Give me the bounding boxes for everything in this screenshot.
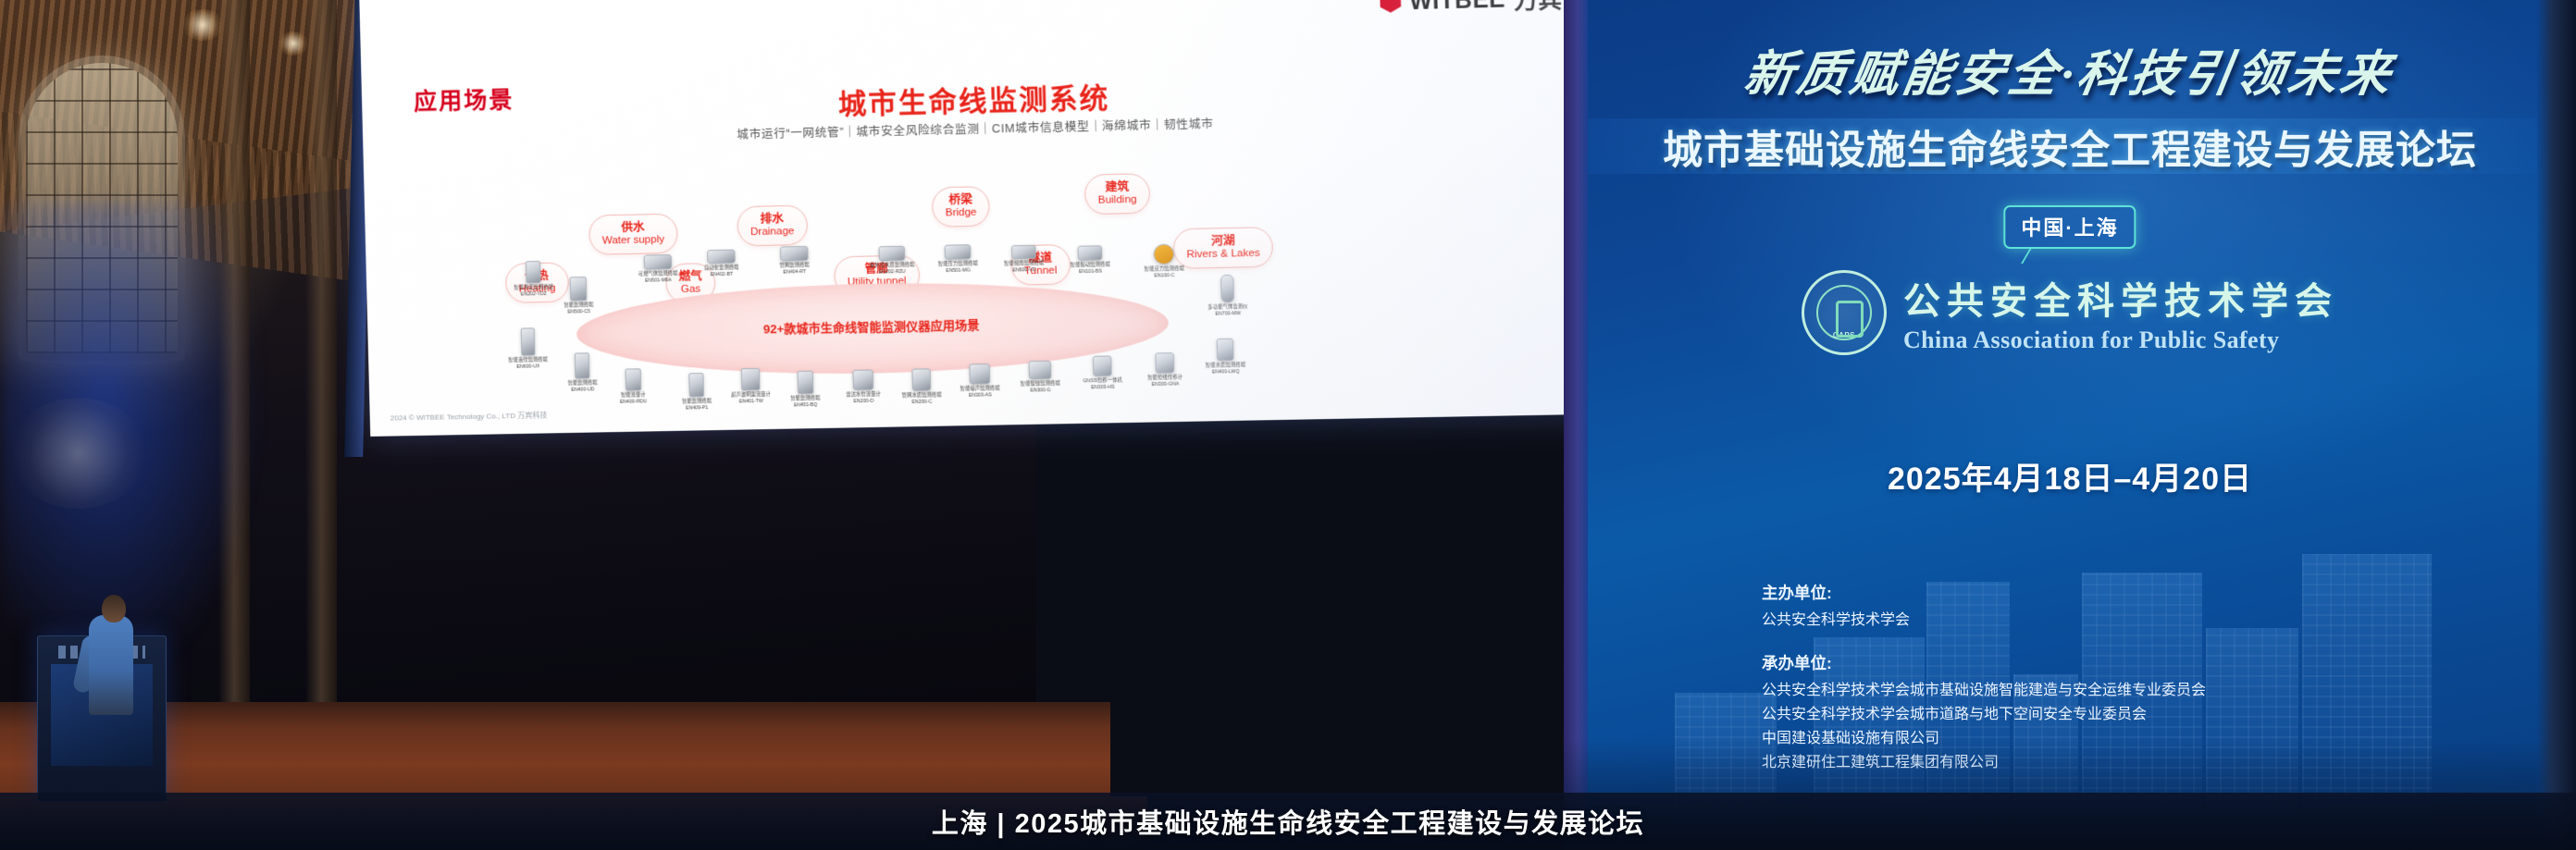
- speaker-person: [89, 615, 133, 715]
- scenario-pill-building: 建筑 Building: [1084, 173, 1151, 215]
- witbee-logo: WITBEE 万宾: [1380, 0, 1563, 19]
- slide-footer: 2024 © WITBEE Technology Co., LTD 万宾科技: [390, 410, 548, 423]
- crack-sensor-icon: [1028, 361, 1051, 380]
- vibration-sensor-icon: [1077, 245, 1102, 261]
- device-item: 智能水质监测终端 EN400-LWQ: [1195, 338, 1257, 375]
- co-host-name: 公共安全科学技术学会城市基础设施智能建造与安全运维专业委员会: [1762, 679, 2539, 703]
- device-item: 雷达水位流量计 EN200-D: [833, 369, 894, 404]
- ceiling-spotlight-icon: [181, 9, 224, 41]
- host-label: 主办单位:: [1762, 581, 2539, 604]
- hex-logo-icon: [1380, 0, 1401, 13]
- device-item: 智能流量计 EN400-RDU: [602, 368, 663, 405]
- sensor-icon: [520, 327, 535, 355]
- speaker-head: [102, 595, 126, 622]
- co-host-name: 中国建设基础设施有限公司: [1762, 727, 2539, 751]
- radar-level-meter-icon: [852, 369, 873, 390]
- sensor-icon: [688, 373, 704, 397]
- device-item: 超声波明渠流量计 EN401-TW: [720, 367, 781, 404]
- device-item: GNSS位移一体机 EN303-HS: [1071, 355, 1133, 390]
- device-item: 智能监测终端 EN409-P1: [666, 373, 727, 412]
- device-item: 管网水质监测终端 EN200-C: [891, 368, 952, 405]
- backdrop-main-title: 城市基础设施生命线安全工程建设与发展论坛: [1564, 118, 2576, 176]
- sensor-icon: [575, 352, 590, 378]
- device-item: 智能监测终端 EN500-C5: [548, 277, 608, 315]
- scenario-pill-drainage: 排水 Drainage: [737, 205, 808, 247]
- device-item: 可燃气体监测终端 EN501-M6A: [627, 254, 687, 284]
- projected-slide: WITBEE 万宾 应用场景 城市生命线监测系统 城市运行“一网统管”｜城市安全…: [359, 0, 1605, 450]
- device-item: 智能倾角监测终端 EN600-VD: [994, 244, 1055, 273]
- device-item: 管网监测终端 EN404-RT: [764, 245, 825, 275]
- water-quality-terminal-icon: [1217, 339, 1234, 362]
- event-date: 2025年4月18日–4月20日: [1564, 453, 2576, 499]
- stress-sensor-icon: [1153, 244, 1174, 265]
- caption-text: 上海 | 2025城市基础设施生命线安全工程建设与发展论坛: [932, 802, 1644, 841]
- pipeline-monitor-icon: [780, 246, 809, 262]
- co-host-name: 公共安全科学技术学会城市道路与地下空间安全专业委员会: [1762, 703, 2539, 727]
- device-item: 智能裂缝监测终端 EN300-G: [1009, 360, 1071, 393]
- caps-seal-abbr: CAPS: [1804, 331, 1884, 339]
- scenario-pill-water-supply: 供水 Water supply: [588, 214, 678, 256]
- conference-backdrop: 新质赋能安全·科技引领未来 城市基础设施生命线安全工程建设与发展论坛 中国·上海…: [1564, 0, 2576, 850]
- brand-name-en: WITBEE: [1409, 0, 1505, 16]
- flow-meter-icon: [625, 368, 641, 390]
- uv-water-quality-icon: [878, 246, 905, 262]
- device-item: 智能监测终端 EN401-BQ: [774, 370, 836, 408]
- co-host-name: 北京建研住工建筑工程集团有限公司: [1762, 751, 2539, 775]
- device-item: 智能应力监测终端 EN100-C: [1133, 243, 1195, 278]
- city-badge: 中国·上海: [2003, 205, 2136, 249]
- sensor-icon: [526, 261, 541, 283]
- brand-name-cn: 万宾: [1514, 0, 1563, 17]
- device-item: 智能噪声监测终端 EN303-AS: [949, 363, 1010, 399]
- spacer: [1762, 633, 2539, 651]
- backdrop-right-edge: [2537, 0, 2576, 850]
- device-item: 智能压力监测终端 EN501-MG: [927, 244, 988, 274]
- ceiling-spotlight-icon: [278, 31, 309, 55]
- multi-gas-detector-icon: [1220, 275, 1234, 303]
- device-item: 多功能气体监测仪 EN700-MW: [1196, 274, 1258, 316]
- association-name-en: China Association for Public Safety: [1903, 326, 2338, 354]
- gnss-displacement-icon: [1093, 355, 1112, 376]
- scenario-pill-bridge: 桥梁 Bridge: [932, 186, 990, 228]
- organizers-block: 主办单位: 公共安全科学技术学会 承办单位: 公共安全科学技术学会城市基础设施智…: [1762, 581, 2539, 775]
- device-item: 智能液位监测终端 EN600-UX: [498, 327, 558, 370]
- co-host-label: 承办单位:: [1762, 651, 2539, 674]
- sensor-icon: [570, 277, 588, 301]
- device-item: 自动化监测终端 EN402-BT: [691, 249, 751, 277]
- caps-seal-icon: CAPS: [1802, 270, 1887, 355]
- gas-detector-icon: [644, 254, 673, 270]
- tilt-sensor-icon: [1011, 245, 1036, 260]
- device-item: 智能振动监测终端 EN101-BS: [1059, 245, 1121, 275]
- association-names: 公共安全科学技术学会 China Association for Public …: [1903, 271, 2338, 354]
- automation-terminal-icon: [707, 250, 736, 265]
- association-block: CAPS 公共安全科学技术学会 China Association for Pu…: [1564, 270, 2576, 355]
- host-name: 公共安全科学技术学会: [1762, 609, 2539, 633]
- device-item: 紫外法水质监测终端 EN202-RZU: [861, 245, 923, 275]
- stage-light-glow: [9, 398, 148, 509]
- association-name-cn: 公共安全科学技术学会: [1903, 271, 2338, 325]
- device-item: 智能拉线位移计 EN300-GNA: [1134, 352, 1196, 388]
- slide-canvas: WITBEE 万宾 应用场景 城市生命线监测系统 城市运行“一网统管”｜城市安全…: [359, 0, 1605, 437]
- water-quality-icon: [911, 368, 931, 391]
- noise-sensor-icon: [969, 363, 990, 385]
- ultrasonic-flow-meter-icon: [741, 368, 761, 391]
- wire-displacement-icon: [1155, 352, 1174, 374]
- pressure-sensor-icon: [945, 244, 972, 260]
- caption-bar: 上海 | 2025城市基础设施生命线安全工程建设与发展论坛: [0, 793, 2576, 850]
- sensor-icon: [797, 371, 813, 394]
- backdrop-calligraphy-slogan: 新质赋能安全·科技引领未来: [1564, 35, 2576, 105]
- conference-photo-screenshot: WITBEE 万宾 应用场景 城市生命线监测系统 城市运行“一网统管”｜城市安全…: [0, 0, 2576, 850]
